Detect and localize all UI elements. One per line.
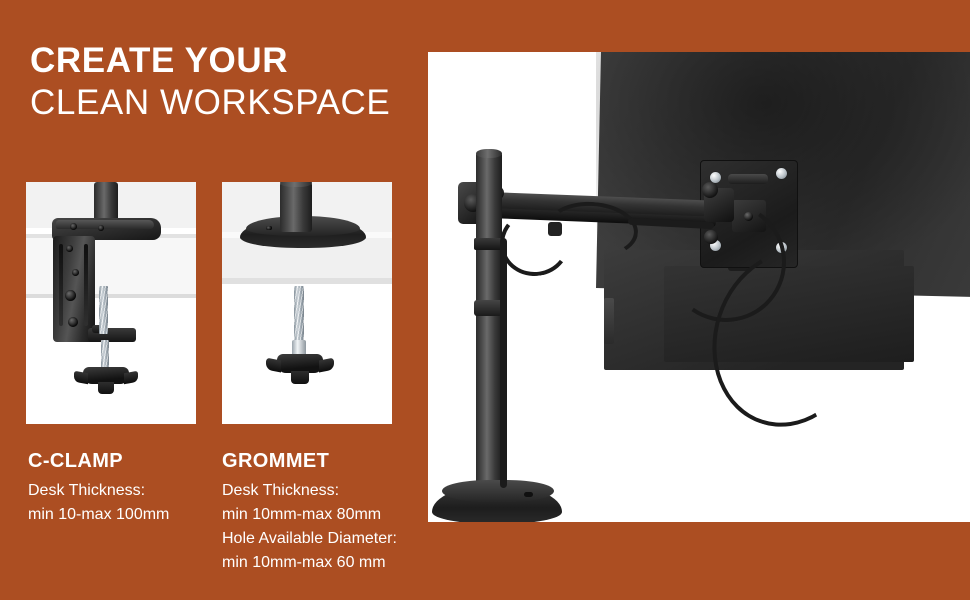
- grommet-spec-line-4: min 10mm-max 60 mm: [222, 551, 397, 575]
- headline-block: CREATE YOUR CLEAN WORKSPACE: [30, 40, 390, 124]
- c-clamp-caption: C-CLAMP Desk Thickness: min 10-max 100mm: [28, 448, 169, 527]
- c-clamp-mount-photo: [26, 182, 196, 424]
- grommet-spec-line-1: Desk Thickness:: [222, 479, 397, 503]
- c-clamp-spec-line-2: min 10-max 100mm: [28, 503, 169, 527]
- grommet-mount-photo: [222, 182, 392, 424]
- grommet-spec-line-3: Hole Available Diameter:: [222, 527, 397, 551]
- promo-banner: CREATE YOUR CLEAN WORKSPACE: [0, 0, 970, 600]
- grommet-thumbnail-panel: [222, 182, 392, 424]
- grommet-spec-line-2: min 10mm-max 80mm: [222, 503, 397, 527]
- c-clamp-thumbnail-panel: [26, 182, 196, 424]
- grommet-title: GROMMET: [222, 448, 397, 474]
- c-clamp-title: C-CLAMP: [28, 448, 169, 474]
- c-clamp-spec-line-1: Desk Thickness:: [28, 479, 169, 503]
- headline-line-2: CLEAN WORKSPACE: [30, 82, 390, 124]
- headline-line-1: CREATE YOUR: [30, 40, 390, 82]
- monitor-arm-rear-view-photo: [428, 52, 970, 522]
- grommet-caption: GROMMET Desk Thickness: min 10mm-max 80m…: [222, 448, 397, 575]
